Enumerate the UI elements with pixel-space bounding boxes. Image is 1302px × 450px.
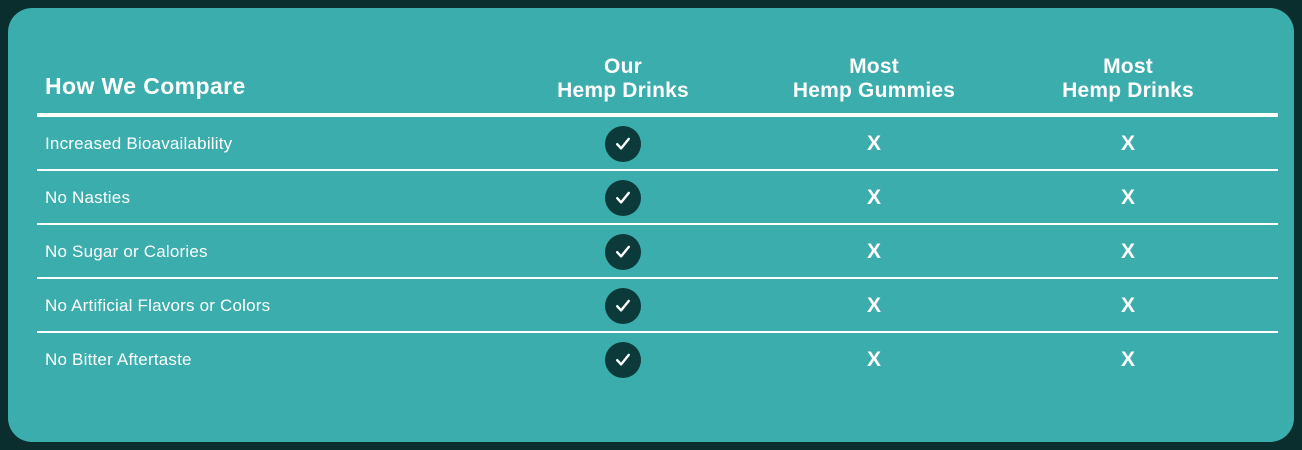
column-header-line1: Our (557, 55, 689, 80)
comparison-table: How We Compare Our Hemp Drinks Most Hemp… (37, 8, 1278, 114)
check-icon (605, 180, 641, 216)
table-row: No Sugar or Calories X X (37, 225, 1278, 279)
comparison-card: How We Compare Our Hemp Drinks Most Hemp… (8, 8, 1294, 442)
cell-our-hemp-drinks (605, 126, 641, 162)
column-header-our-hemp-drinks: Our Hemp Drinks (557, 55, 689, 104)
x-icon: X (856, 234, 892, 270)
column-header-line2: Hemp Drinks (557, 79, 689, 104)
page-title: How We Compare (45, 73, 246, 100)
x-icon: X (856, 126, 892, 162)
row-label: No Nasties (45, 188, 130, 208)
cell-most-hemp-gummies: X (856, 180, 892, 216)
table-row: No Bitter Aftertaste X X (37, 333, 1278, 387)
check-icon (605, 288, 641, 324)
row-label: No Artificial Flavors or Colors (45, 296, 270, 316)
table-row: No Artificial Flavors or Colors X X (37, 279, 1278, 333)
table-body: Increased Bioavailability X X N (37, 117, 1278, 387)
x-icon: X (856, 180, 892, 216)
cell-our-hemp-drinks (605, 180, 641, 216)
cell-most-hemp-gummies: X (856, 342, 892, 378)
x-icon: X (856, 288, 892, 324)
cell-most-hemp-gummies: X (856, 126, 892, 162)
column-header-line1: Most (793, 55, 955, 80)
cell-our-hemp-drinks (605, 288, 641, 324)
row-label: No Sugar or Calories (45, 242, 208, 262)
table-row: Increased Bioavailability X X (37, 117, 1278, 171)
row-label: No Bitter Aftertaste (45, 350, 192, 370)
x-icon: X (1110, 126, 1146, 162)
cell-most-hemp-drinks: X (1110, 126, 1146, 162)
column-header-most-hemp-drinks: Most Hemp Drinks (1062, 55, 1194, 104)
cell-most-hemp-gummies: X (856, 288, 892, 324)
column-header-line2: Hemp Gummies (793, 79, 955, 104)
check-icon (605, 126, 641, 162)
x-icon: X (856, 342, 892, 378)
column-header-line1: Most (1062, 55, 1194, 80)
check-icon (605, 342, 641, 378)
column-header-line2: Hemp Drinks (1062, 79, 1194, 104)
x-icon: X (1110, 342, 1146, 378)
cell-most-hemp-drinks: X (1110, 234, 1146, 270)
x-icon: X (1110, 180, 1146, 216)
row-label: Increased Bioavailability (45, 134, 232, 154)
cell-most-hemp-drinks: X (1110, 180, 1146, 216)
column-header-most-hemp-gummies: Most Hemp Gummies (793, 55, 955, 104)
x-icon: X (1110, 288, 1146, 324)
cell-most-hemp-drinks: X (1110, 288, 1146, 324)
table-row: No Nasties X X (37, 171, 1278, 225)
x-icon: X (1110, 234, 1146, 270)
cell-our-hemp-drinks (605, 234, 641, 270)
check-icon (605, 234, 641, 270)
cell-most-hemp-drinks: X (1110, 342, 1146, 378)
table-header-row: How We Compare Our Hemp Drinks Most Hemp… (37, 8, 1278, 114)
cell-our-hemp-drinks (605, 342, 641, 378)
cell-most-hemp-gummies: X (856, 234, 892, 270)
